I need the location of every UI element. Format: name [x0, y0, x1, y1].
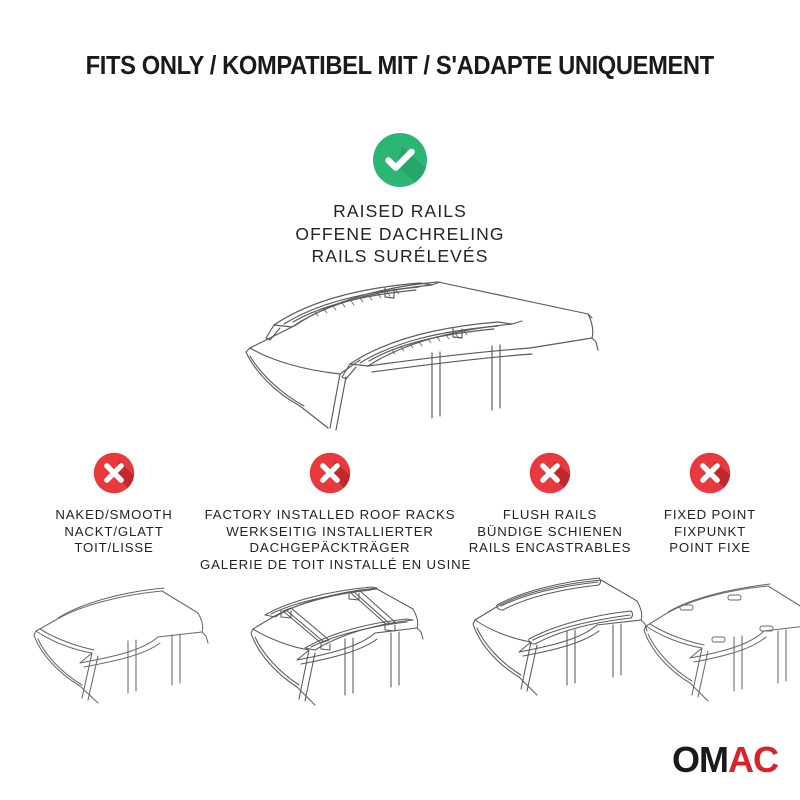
cross-circle-icon	[309, 452, 351, 494]
incompatible-item-naked-smooth: NAKED/SMOOTH NACKT/GLATT TOIT/LISSE	[0, 452, 228, 708]
logo-text-dark: OM	[672, 739, 728, 780]
label-line-3: TOIT/LISSE	[0, 540, 228, 557]
page-title: FITS ONLY / KOMPATIBEL MIT / S'ADAPTE UN…	[0, 52, 800, 81]
omac-logo: OMAC	[672, 742, 778, 778]
label-line-4: GALERIE DE TOIT INSTALLÉ EN USINE	[200, 557, 460, 574]
incompatible-item-factory-rack: FACTORY INSTALLED ROOF RACKS WERKSEITIG …	[200, 452, 460, 712]
label-line-1: FACTORY INSTALLED ROOF RACKS	[200, 507, 460, 524]
check-circle-icon	[372, 132, 428, 188]
label-line-1: NAKED/SMOOTH	[0, 507, 228, 524]
label-line-2: NACKT/GLATT	[0, 524, 228, 541]
incompatible-labels: NAKED/SMOOTH NACKT/GLATT TOIT/LISSE	[0, 507, 228, 557]
cross-circle-icon	[93, 452, 135, 494]
incompatible-labels: FACTORY INSTALLED ROOF RACKS WERKSEITIG …	[200, 507, 460, 573]
compatible-label-fr: RAILS SURÉLEVÉS	[0, 245, 800, 268]
page-title-text: FITS ONLY / KOMPATIBEL MIT / S'ADAPTE UN…	[86, 52, 714, 81]
label-line-3: DACHGEPÄCKTRÄGER	[200, 540, 460, 557]
fitment-infographic: FITS ONLY / KOMPATIBEL MIT / S'ADAPTE UN…	[0, 0, 800, 800]
cross-circle-icon	[689, 452, 731, 494]
label-line-2: FIXPUNKT	[620, 524, 800, 541]
car-roof-naked-smooth-diagram	[0, 573, 228, 708]
car-roof-factory-rack-diagram	[204, 577, 460, 712]
label-line-2: WERKSEITIG INSTALLIERTER	[200, 524, 460, 541]
incompatible-labels: FIXED POINT FIXPUNKT POINT FIXE	[620, 507, 800, 557]
car-roof-raised-rails-diagram	[200, 278, 600, 453]
label-line-1: FIXED POINT	[620, 507, 800, 524]
logo-text-red: AC	[728, 739, 778, 780]
incompatible-item-fixed-point: FIXED POINT FIXPUNKT POINT FIXE	[620, 452, 800, 706]
compatible-section: RAISED RAILS OFFENE DACHRELING RAILS SUR…	[0, 132, 800, 268]
label-line-3: POINT FIXE	[620, 540, 800, 557]
cross-circle-icon	[529, 452, 571, 494]
compatible-label-de: OFFENE DACHRELING	[0, 223, 800, 246]
compatible-labels: RAISED RAILS OFFENE DACHRELING RAILS SUR…	[0, 200, 800, 268]
car-roof-fixed-point-diagram	[624, 571, 800, 706]
compatible-label-en: RAISED RAILS	[0, 200, 800, 223]
